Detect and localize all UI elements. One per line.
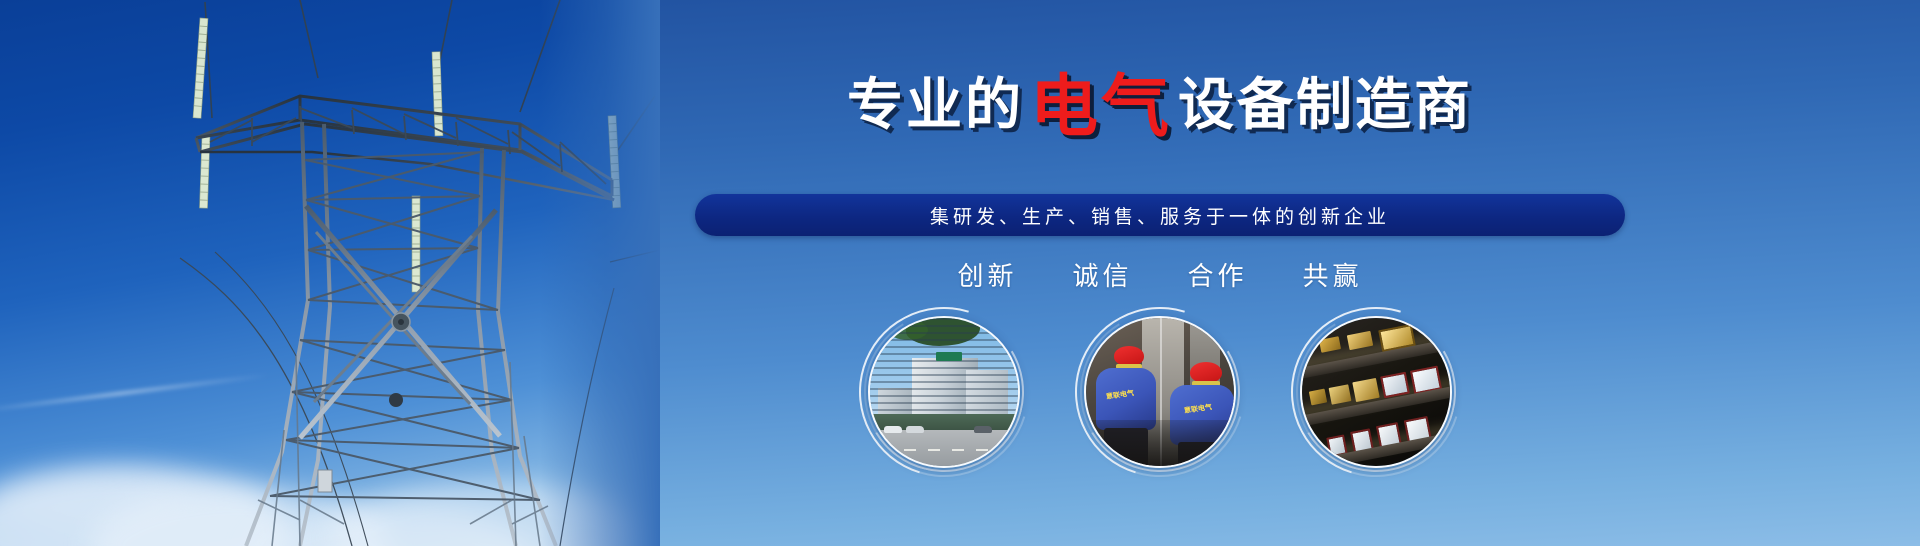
rooftop-sign — [936, 352, 962, 361]
office-building-photo — [868, 316, 1020, 468]
circle-photo-technicians[interactable]: 意联电气 意联电气 — [1084, 316, 1236, 468]
keyword-row: 创新 诚信 合作 共赢 — [660, 256, 1660, 293]
banner-headline: 专业的电气设备制造商 — [660, 72, 1660, 140]
transmission-tower-photo — [0, 0, 660, 546]
headline-highlight: 电气 — [1030, 74, 1172, 142]
keyword-integrity: 诚信 — [1072, 256, 1132, 293]
banner-content: 专业的电气设备制造商 集研发、生产、销售、服务于一体的创新企业 创新 诚信 合作… — [660, 0, 1920, 546]
honor-wall-photo — [1300, 316, 1452, 468]
headline-part-1: 专业的 — [847, 78, 1024, 134]
tagline-text: 集研发、生产、销售、服务于一体的创新企业 — [930, 202, 1390, 229]
keyword-cooperation: 合作 — [1188, 256, 1248, 293]
keyword-winwin: 共赢 — [1303, 256, 1363, 293]
headline-part-2: 设备制造商 — [1178, 78, 1473, 134]
circle-photo-row: 意联电气 意联电气 — [660, 316, 1660, 468]
promo-banner: 专业的电气设备制造商 集研发、生产、销售、服务于一体的创新企业 创新 诚信 合作… — [0, 0, 1920, 546]
photo-fade-overlay — [540, 0, 660, 546]
tagline-pill: 集研发、生产、销售、服务于一体的创新企业 — [695, 194, 1625, 236]
circle-photo-office-building[interactable] — [868, 316, 1020, 468]
keyword-innovation: 创新 — [957, 256, 1017, 293]
circle-photo-honor-wall[interactable] — [1300, 316, 1452, 468]
technicians-photo: 意联电气 意联电气 — [1084, 316, 1236, 468]
